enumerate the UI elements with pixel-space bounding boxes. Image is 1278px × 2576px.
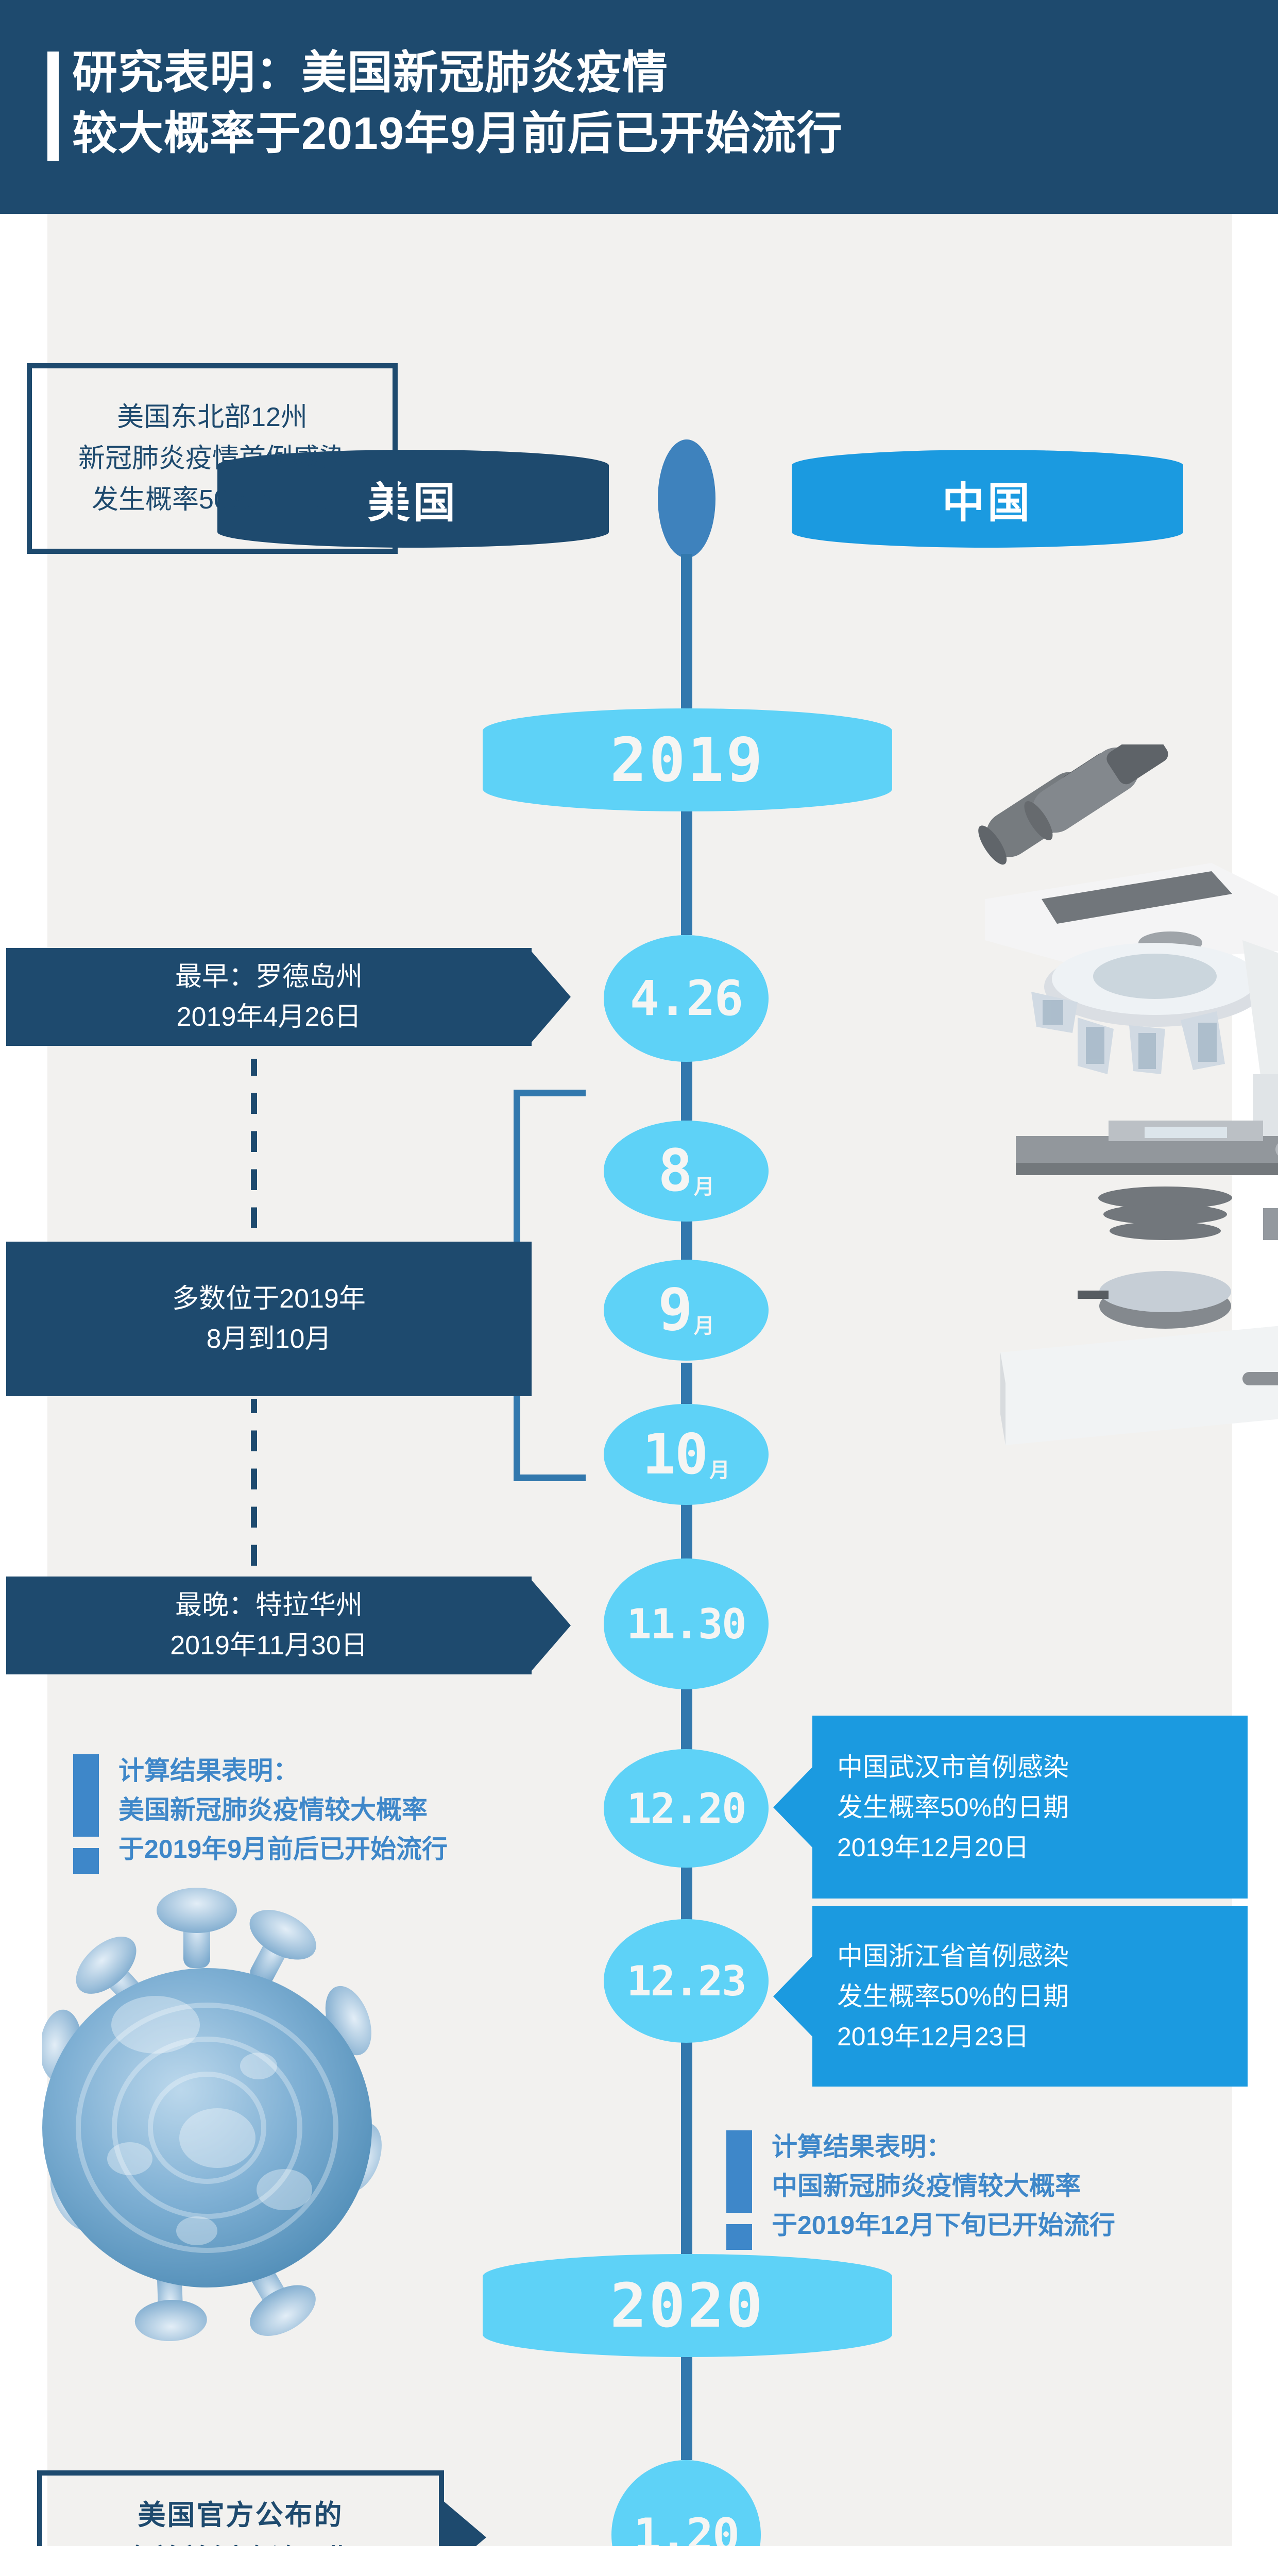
us-definition-line2: 新冠肺炎疫情首例感染: [32, 438, 393, 479]
us-conclusion-text: 计算结果表明： 美国新冠肺炎疫情较大概率 于2019年9月前后已开始流行: [118, 1751, 448, 1869]
cn-callout-wuhan-line3: 2019年12月20日: [837, 1827, 1237, 1868]
timeline-node-5[interactable]: 12.20: [604, 1749, 769, 1868]
cn-conclusion-line3: 于2019年12月下旬已开始流行: [772, 2206, 1115, 2245]
us-callout-earliest: 最早：罗德岛州 2019年4月26日: [6, 948, 532, 1046]
timeline-node-4[interactable]: 11.30: [604, 1558, 769, 1689]
us-definition-line3: 发生概率50%的日期: [32, 479, 393, 520]
year-2019-label: 2019: [610, 724, 764, 795]
us-callout-earliest-line2: 2019年4月26日: [27, 997, 511, 1037]
timeline-node-5-label: 12.20: [627, 1785, 746, 1833]
timeline-node-2[interactable]: 9 月: [604, 1260, 769, 1361]
us-callout-latest-text: 最晚：特拉华州 2019年11月30日: [6, 1585, 532, 1666]
page-title: 研究表明：美国新冠肺炎疫情 较大概率于2019年9月前后已开始流行: [72, 42, 843, 164]
year-2020-label: 2020: [610, 2270, 764, 2341]
cn-conclusion-line1: 计算结果表明：: [772, 2127, 1115, 2166]
us-callout-latest-arrow: [532, 1580, 571, 1671]
timeline-node-3-label: 10: [642, 1422, 707, 1487]
cn-callout-wuhan-line2: 发生概率50%的日期: [837, 1787, 1237, 1827]
page-title-line1: 研究表明：美国新冠肺炎疫情: [72, 42, 843, 103]
us-callout-earliest-text: 最早：罗德岛州 2019年4月26日: [6, 957, 532, 1037]
timeline-spine-seg2: [681, 801, 692, 935]
timeline-node-6[interactable]: 12.23: [604, 1919, 769, 2043]
cn-callout-wuhan: 中国武汉市首例感染 发生概率50%的日期 2019年12月20日: [812, 1716, 1248, 1899]
us-definition-text: 美国东北部12州 新冠肺炎疫情首例感染 发生概率50%的日期: [32, 397, 393, 520]
timeline-node-4-label: 11.30: [627, 1600, 746, 1648]
timeline-node-1-suffix: 月: [694, 1170, 714, 1200]
timeline-node-2-suffix: 月: [694, 1309, 714, 1339]
us-callout-latest-line2: 2019年11月30日: [27, 1625, 511, 1666]
us-conclusion-line3: 于2019年9月前后已开始流行: [118, 1829, 448, 1869]
exclamation-mark-icon-us-dot: [73, 1848, 99, 1874]
cn-callout-zhejiang-line2: 发生概率50%的日期: [837, 1976, 1237, 2016]
timeline-spine-seg10: [681, 2347, 692, 2460]
legend-cn-label: 中国: [942, 468, 1033, 530]
us-conclusion-line2: 美国新冠肺炎疫情较大概率: [118, 1790, 448, 1829]
legend-pill-cn: 中国: [792, 450, 1183, 548]
us-callout-earliest-line1: 最早：罗德岛州: [27, 957, 511, 997]
cn-callout-wuhan-text: 中国武汉市首例感染 发生概率50%的日期 2019年12月20日: [837, 1747, 1237, 1868]
cn-callout-zhejiang: 中国浙江省首例感染 发生概率50%的日期 2019年12月23日: [812, 1906, 1248, 2087]
infographic-canvas: 美国 中国 美国东北部12州 新冠肺炎疫情首例感染 发生概率50%的日期 201…: [47, 214, 1232, 2546]
legend-center-node: [658, 439, 715, 558]
cn-conclusion-line2: 中国新冠肺炎疫情较大概率: [772, 2166, 1115, 2206]
dashed-connector-1: [251, 1059, 257, 1242]
us-callout-earliest-arrow: [532, 952, 571, 1042]
us-definition-box: 美国东北部12州 新冠肺炎疫情首例感染 发生概率50%的日期: [27, 363, 398, 554]
us-callout-majority: 多数位于2019年 8月到10月: [6, 1242, 532, 1396]
page-title-line2: 较大概率于2019年9月前后已开始流行: [72, 103, 843, 164]
timeline-node-1-label: 8: [658, 1138, 691, 1205]
cn-callout-wuhan-arrow: [773, 1767, 812, 1848]
timeline-spine-seg8: [681, 1862, 692, 1924]
page-header: 研究表明：美国新冠肺炎疫情 较大概率于2019年9月前后已开始流行: [0, 0, 1278, 214]
us-official-first-case-line1: 美国官方公布的: [42, 2493, 439, 2537]
page-footer: 中新网 chinanews.com 来源：中国科学院科技论文预发布平台 编辑：谷…: [0, 2546, 1278, 2576]
cn-callout-wuhan-line1: 中国武汉市首例感染: [837, 1747, 1237, 1787]
us-callout-latest: 最晚：特拉华州 2019年11月30日: [6, 1577, 532, 1674]
cn-callout-zhejiang-line1: 中国浙江省首例感染: [837, 1936, 1237, 1976]
timeline-spine-seg5: [681, 1363, 692, 1404]
timeline-spine-seg9: [681, 2038, 692, 2254]
exclamation-mark-icon-cn-dot: [726, 2224, 752, 2250]
year-banner-2020: 2020: [483, 2254, 892, 2357]
dashed-connector-2: [251, 1399, 257, 1577]
header-accent-bar: [47, 52, 59, 161]
exclamation-mark-icon-us-bar: [73, 1754, 99, 1837]
coronavirus-icon: [42, 1870, 403, 2391]
cn-callout-zhejiang-arrow: [773, 1956, 812, 2037]
us-conclusion-line1: 计算结果表明：: [118, 1751, 448, 1790]
infographic-page: 研究表明：美国新冠肺炎疫情 较大概率于2019年9月前后已开始流行: [0, 0, 1278, 2576]
us-callout-majority-line2: 8月到10月: [6, 1319, 532, 1359]
timeline-spine-seg1: [681, 554, 692, 708]
timeline-node-2-label: 9: [658, 1277, 691, 1344]
timeline-spine-seg7: [681, 1687, 692, 1754]
cn-callout-zhejiang-text: 中国浙江省首例感染 发生概率50%的日期 2019年12月23日: [837, 1936, 1237, 2057]
year-banner-2019: 2019: [483, 708, 892, 811]
timeline-spine-seg3: [681, 1059, 692, 1121]
timeline-spine-seg4: [681, 1218, 692, 1260]
timeline-node-0[interactable]: 4.26: [604, 935, 769, 1062]
timeline-node-3[interactable]: 10 月: [604, 1404, 769, 1505]
timeline-node-3-suffix: 月: [709, 1453, 730, 1483]
cn-callout-zhejiang-line3: 2019年12月23日: [837, 2016, 1237, 2057]
us-definition-line1: 美国东北部12州: [32, 397, 393, 438]
cn-conclusion-text: 计算结果表明： 中国新冠肺炎疫情较大概率 于2019年12月下旬已开始流行: [772, 2127, 1115, 2245]
exclamation-mark-icon-cn-bar: [726, 2130, 752, 2213]
timeline-node-0-label: 4.26: [630, 971, 742, 1027]
us-callout-latest-line1: 最晚：特拉华州: [27, 1585, 511, 1625]
timeline-node-6-label: 12.23: [627, 1957, 746, 2005]
timeline-node-1[interactable]: 8 月: [604, 1121, 769, 1222]
us-callout-majority-line1: 多数位于2019年: [6, 1279, 532, 1319]
us-callout-majority-text: 多数位于2019年 8月到10月: [6, 1279, 532, 1359]
timeline-spine-seg6: [681, 1502, 692, 1564]
microscope-icon: [923, 744, 1278, 1466]
